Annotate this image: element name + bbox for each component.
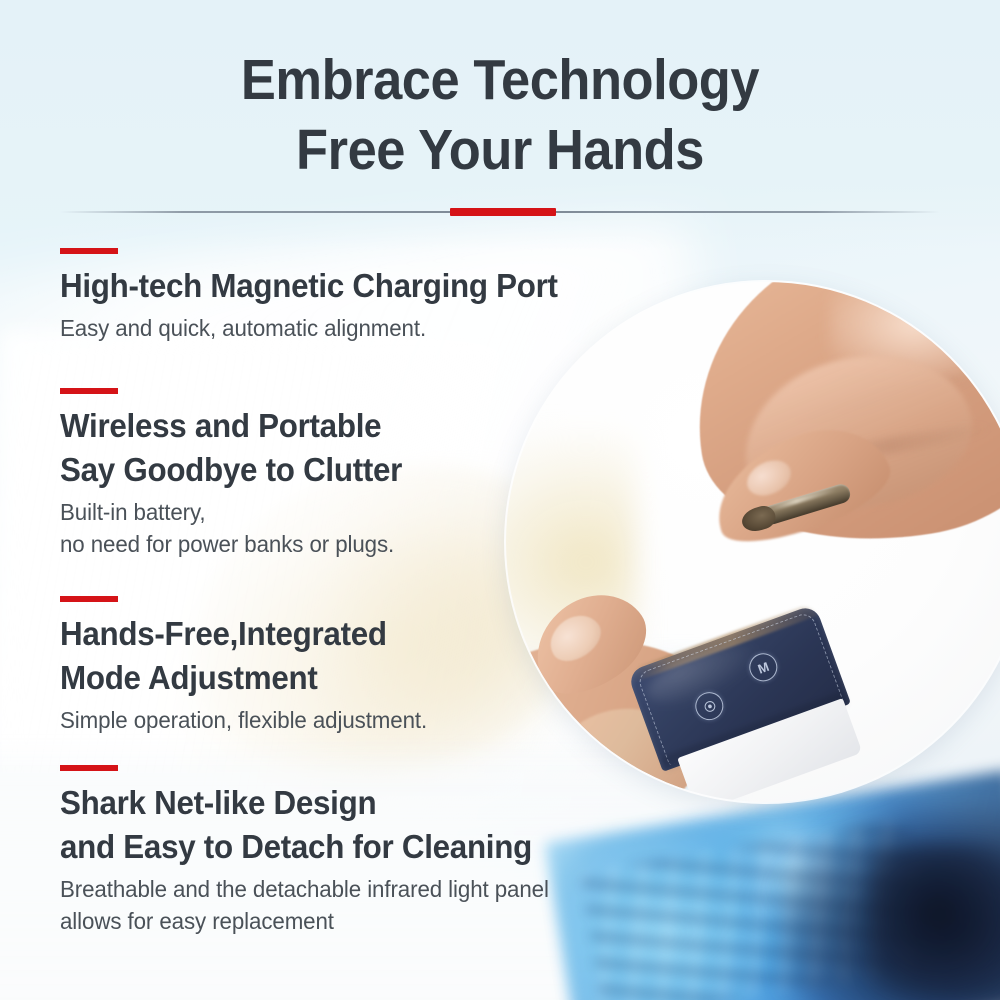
feature-subtitle: Easy and quick, automatic alignment. xyxy=(60,312,568,345)
mode-button-label: M xyxy=(756,659,771,675)
feature-subtitle: Built-in battery, no need for power bank… xyxy=(60,496,409,561)
product-photo-circle: M xyxy=(506,282,1000,802)
background-dark-object-core xyxy=(870,845,1000,995)
product-feature-poster: M Embrace Technology Free Your Hands Hig… xyxy=(0,0,1000,1000)
feature-accent-bar xyxy=(60,596,118,602)
feature-title: Wireless and Portable Say Goodbye to Clu… xyxy=(60,404,402,492)
feature-accent-bar xyxy=(60,765,118,771)
feature-item: Shark Net-like Design and Easy to Detach… xyxy=(60,765,564,938)
feature-accent-bar xyxy=(60,248,118,254)
feature-subtitle: Breathable and the detachable infrared l… xyxy=(60,873,549,938)
feature-accent-bar xyxy=(60,388,118,394)
feature-item: Hands-Free,Integrated Mode Adjustment Si… xyxy=(60,596,438,736)
feature-title: Shark Net-like Design and Easy to Detach… xyxy=(60,781,539,869)
feature-subtitle: Simple operation, flexible adjustment. xyxy=(60,704,427,737)
page-title: Embrace Technology Free Your Hands xyxy=(40,46,960,185)
feature-title: High-tech Magnetic Charging Port xyxy=(60,264,558,308)
divider-accent-bar xyxy=(450,208,556,216)
hand-holding-charger xyxy=(654,282,1000,620)
feature-item: Wireless and Portable Say Goodbye to Clu… xyxy=(60,388,420,561)
feature-item: High-tech Magnetic Charging Port Easy an… xyxy=(60,248,584,345)
divider xyxy=(60,208,940,216)
feature-title: Hands-Free,Integrated Mode Adjustment xyxy=(60,612,420,700)
